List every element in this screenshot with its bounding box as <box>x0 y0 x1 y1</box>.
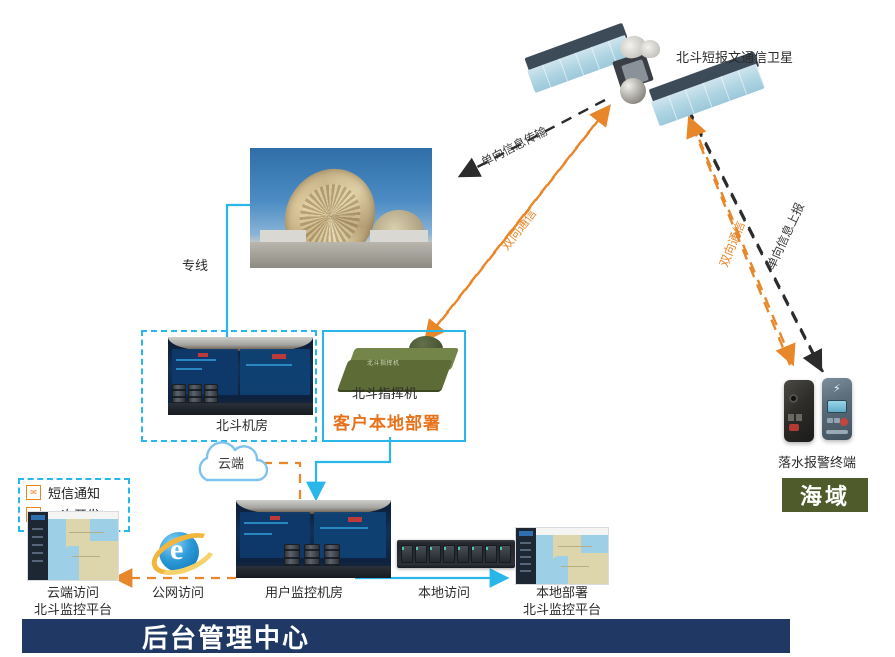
satellite-icon <box>520 18 760 138</box>
command-machine-badge: 客户本地部署 <box>333 409 441 434</box>
sms-icon: ✉ <box>26 485 41 500</box>
local-access-label: 本地访问 <box>418 585 470 601</box>
link-label-unidirectional-report: 单向信息上报 <box>762 200 808 272</box>
internet-explorer-icon: e <box>150 524 208 578</box>
terminal-label: 落水报警终端 <box>778 455 856 471</box>
sea-area-banner: 海域 <box>782 478 868 512</box>
local-platform-label-line1: 本地部署 <box>514 585 610 601</box>
link-sat-to-terminal-uplink <box>688 110 820 368</box>
cloud-label: 云端 <box>185 453 277 472</box>
admin-center-banner: 后台管理中心 <box>22 619 790 653</box>
rack-server-icon <box>397 540 515 568</box>
internet-access-label: 公网访问 <box>152 585 204 601</box>
beidou-room-photo <box>168 337 313 415</box>
water-alarm-terminal-icon: ⚡ <box>784 378 860 444</box>
cloud-platform-map-icon <box>28 512 118 580</box>
user-room-photo <box>236 500 391 578</box>
local-platform-label-line2: 北斗监控平台 <box>514 602 610 618</box>
cloud-service-sms[interactable]: ✉ 短信通知 <box>26 483 128 502</box>
beidou-room-label: 北斗机房 <box>216 418 268 434</box>
cloud-icon: 云端 <box>185 440 277 488</box>
link-label-dedicated-line: 专线 <box>182 258 208 274</box>
local-platform-map-icon <box>516 528 608 584</box>
link-terminal-to-sat-uplink <box>688 108 823 372</box>
link-commandmachine-to-userroom <box>316 437 390 497</box>
satellite-dish-photo <box>250 148 432 268</box>
cloud-service-sms-label: 短信通知 <box>48 483 100 502</box>
satellite-label: 北斗短报文通信卫星 <box>676 50 793 66</box>
link-label-unidirectional-transmission: 单向信息传输 <box>478 122 550 170</box>
user-room-label: 用户监控机房 <box>265 585 343 601</box>
command-machine-label: 北斗指挥机 <box>352 386 417 402</box>
diagram-canvas: 北斗短报文通信卫星 单向信息传输 双向通信 单向信息上报 双向通信 专线 北斗机… <box>0 0 895 657</box>
link-label-bidirectional-comm-left: 双向通信 <box>497 205 540 253</box>
link-label-bidirectional-comm-right: 双向通信 <box>715 218 749 269</box>
cloud-platform-label-line1: 云端访问 <box>25 585 121 601</box>
cloud-platform-label-line2: 北斗监控平台 <box>25 602 121 618</box>
